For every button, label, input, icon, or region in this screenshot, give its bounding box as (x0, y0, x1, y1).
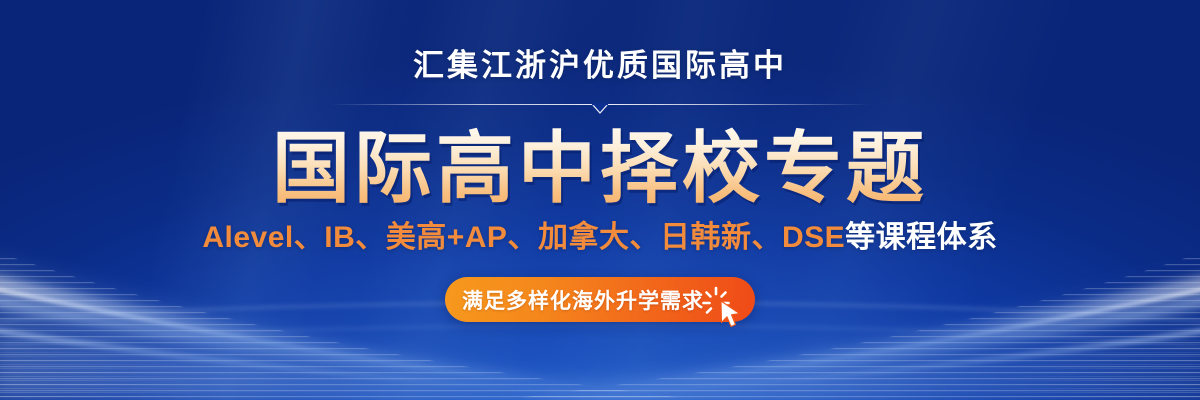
cta-button[interactable]: 满足多样化海外升学需求 (445, 277, 755, 322)
divider (330, 98, 870, 116)
cta-button-label: 满足多样化海外升学需求 (462, 285, 704, 315)
promo-banner: 汇集江浙沪优质国际高中 国际高中择校专题 Alevel、IB、美高+AP、加拿大… (0, 0, 1200, 400)
chevron-down-icon (330, 98, 870, 116)
banner-subheadline: Alevel、IB、美高+AP、加拿大、日韩新、DSE等课程体系 (202, 223, 997, 253)
subheadline-courses: Alevel、IB、美高+AP、加拿大、日韩新、DSE (202, 221, 845, 254)
cta-wrapper: 满足多样化海外升学需求 (445, 277, 755, 323)
banner-headline: 国际高中择校专题 (272, 125, 928, 217)
banner-content: 汇集江浙沪优质国际高中 国际高中择校专题 Alevel、IB、美高+AP、加拿大… (0, 0, 1200, 400)
banner-eyebrow: 汇集江浙沪优质国际高中 (413, 50, 787, 81)
subheadline-tail: 等课程体系 (845, 221, 998, 254)
